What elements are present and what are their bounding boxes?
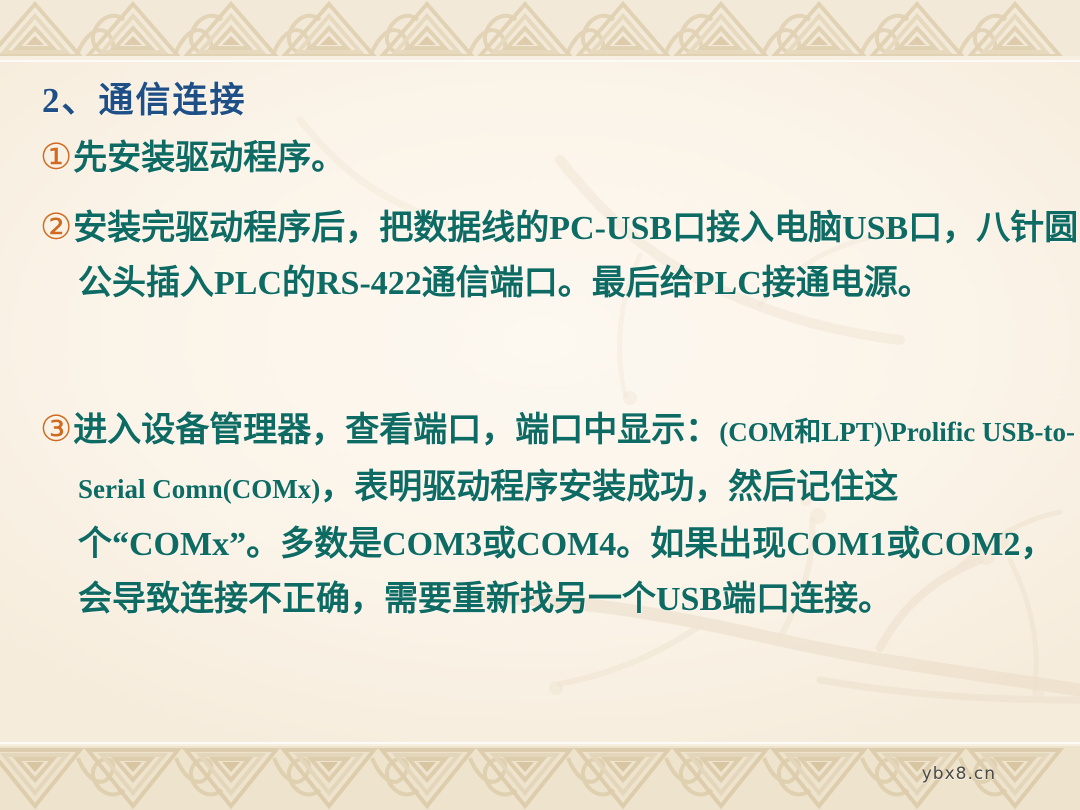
- slide-content: 2、通信连接 ①先安装驱动程序。 ②安装完驱动程序后，把数据线的PC-USB口接…: [0, 62, 1080, 742]
- list-marker-2: ②: [40, 207, 72, 247]
- list-marker-1: ①: [40, 137, 72, 177]
- bottom-decorative-border: [0, 742, 1080, 810]
- bottom-border-highlight: [0, 742, 1080, 744]
- slide: 2、通信连接 ①先安装驱动程序。 ②安装完驱动程序后，把数据线的PC-USB口接…: [0, 0, 1080, 810]
- top-decorative-border: [0, 0, 1080, 62]
- list-item-2: ②安装完驱动程序后，把数据线的PC-USB口接入电脑USB口，八针圆公头插入PL…: [40, 200, 1080, 311]
- site-watermark: ybx8.cn: [922, 764, 996, 784]
- list-marker-3: ③: [40, 409, 72, 449]
- list-item-3: ③进入设备管理器，查看端口，端口中显示：(COM和LPT)\Prolific U…: [40, 402, 1080, 627]
- list-item-1-text: 先安装驱动程序。: [73, 140, 345, 177]
- list-item-1: ①先安装驱动程序。: [40, 130, 1080, 186]
- list-item-2-text: 安装完驱动程序后，把数据线的PC-USB口接入电脑USB口，八针圆公头插入PLC…: [73, 210, 1078, 302]
- list-item-3-text-before: 进入设备管理器，查看端口，端口中显示：: [73, 412, 719, 449]
- page-title: 2、通信连接: [42, 72, 247, 123]
